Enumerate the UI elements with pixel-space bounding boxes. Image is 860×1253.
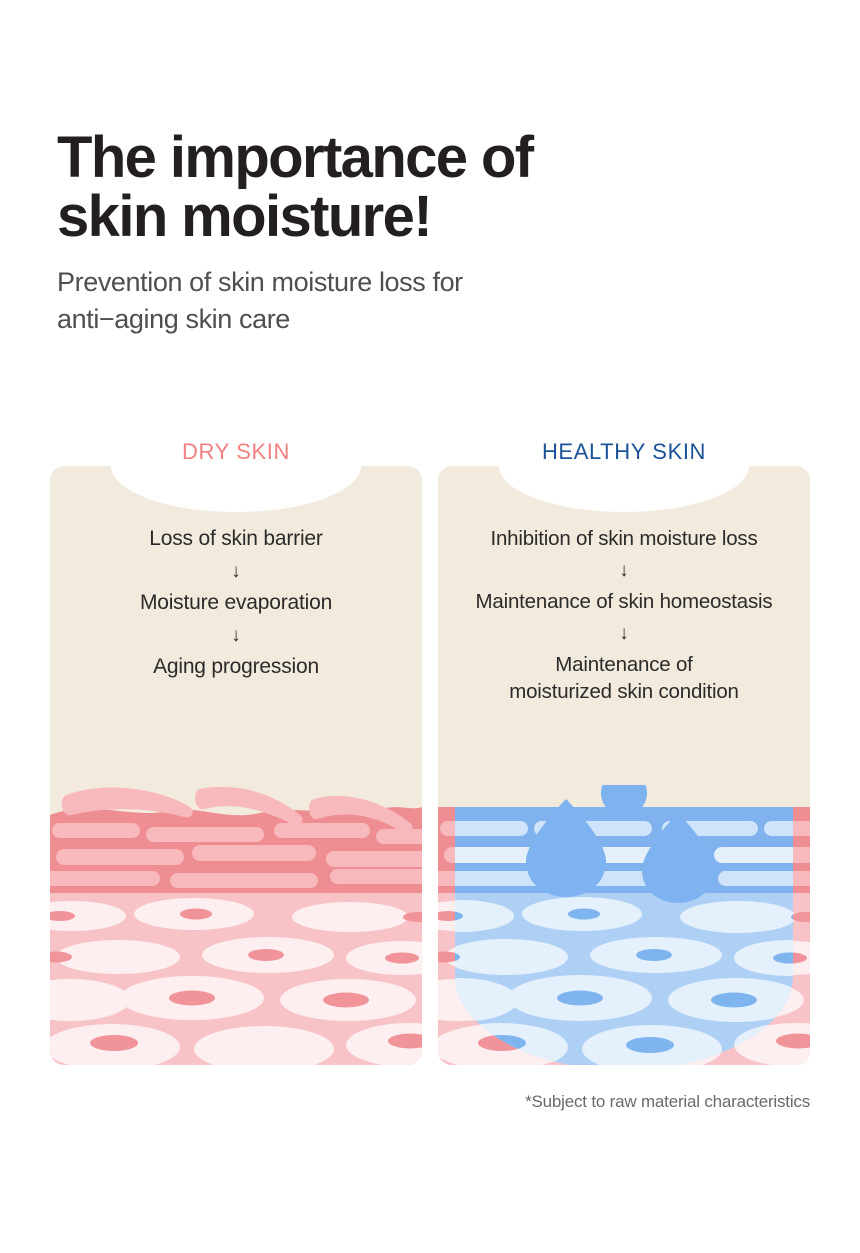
dry-skin-flow: Loss of skin barrier ↓ Moisture evaporat… [50, 466, 422, 681]
healthy-skin-illustration [438, 785, 810, 1065]
healthy-step-1: Inhibition of skin moisture loss [438, 526, 810, 552]
panel-healthy-skin: Inhibition of skin moisture loss ↓ Maint… [438, 466, 810, 1065]
healthy-step-2: Maintenance of skin homeostasis [438, 589, 810, 615]
dry-arrow-1-icon: ↓ [50, 562, 422, 581]
infographic-page: The importance of skin moisture! Prevent… [0, 0, 860, 1253]
page-subtitle: Prevention of skin moisture loss for ant… [57, 264, 757, 337]
footnote: *Subject to raw material characteristics [525, 1092, 810, 1112]
panel-heading-dry-skin: DRY SKIN [50, 439, 422, 465]
dry-step-2: Moisture evaporation [50, 590, 422, 617]
comparison-panels: Loss of skin barrier ↓ Moisture evaporat… [50, 466, 810, 1066]
dry-step-1: Loss of skin barrier [50, 526, 422, 553]
dry-skin-illustration [50, 785, 422, 1065]
healthy-arrow-2-icon: ↓ [438, 624, 810, 643]
heading-block: The importance of skin moisture! Prevent… [57, 128, 757, 338]
healthy-skin-flow: Inhibition of skin moisture loss ↓ Maint… [438, 466, 810, 705]
dry-arrow-2-icon: ↓ [50, 626, 422, 645]
panel-dry-skin: Loss of skin barrier ↓ Moisture evaporat… [50, 466, 422, 1065]
healthy-arrow-1-icon: ↓ [438, 561, 810, 580]
panel-heading-healthy-skin: HEALTHY SKIN [438, 439, 810, 465]
page-title: The importance of skin moisture! [57, 128, 757, 246]
dry-step-3: Aging progression [50, 654, 422, 681]
healthy-step-3: Maintenance of moisturized skin conditio… [438, 652, 810, 704]
